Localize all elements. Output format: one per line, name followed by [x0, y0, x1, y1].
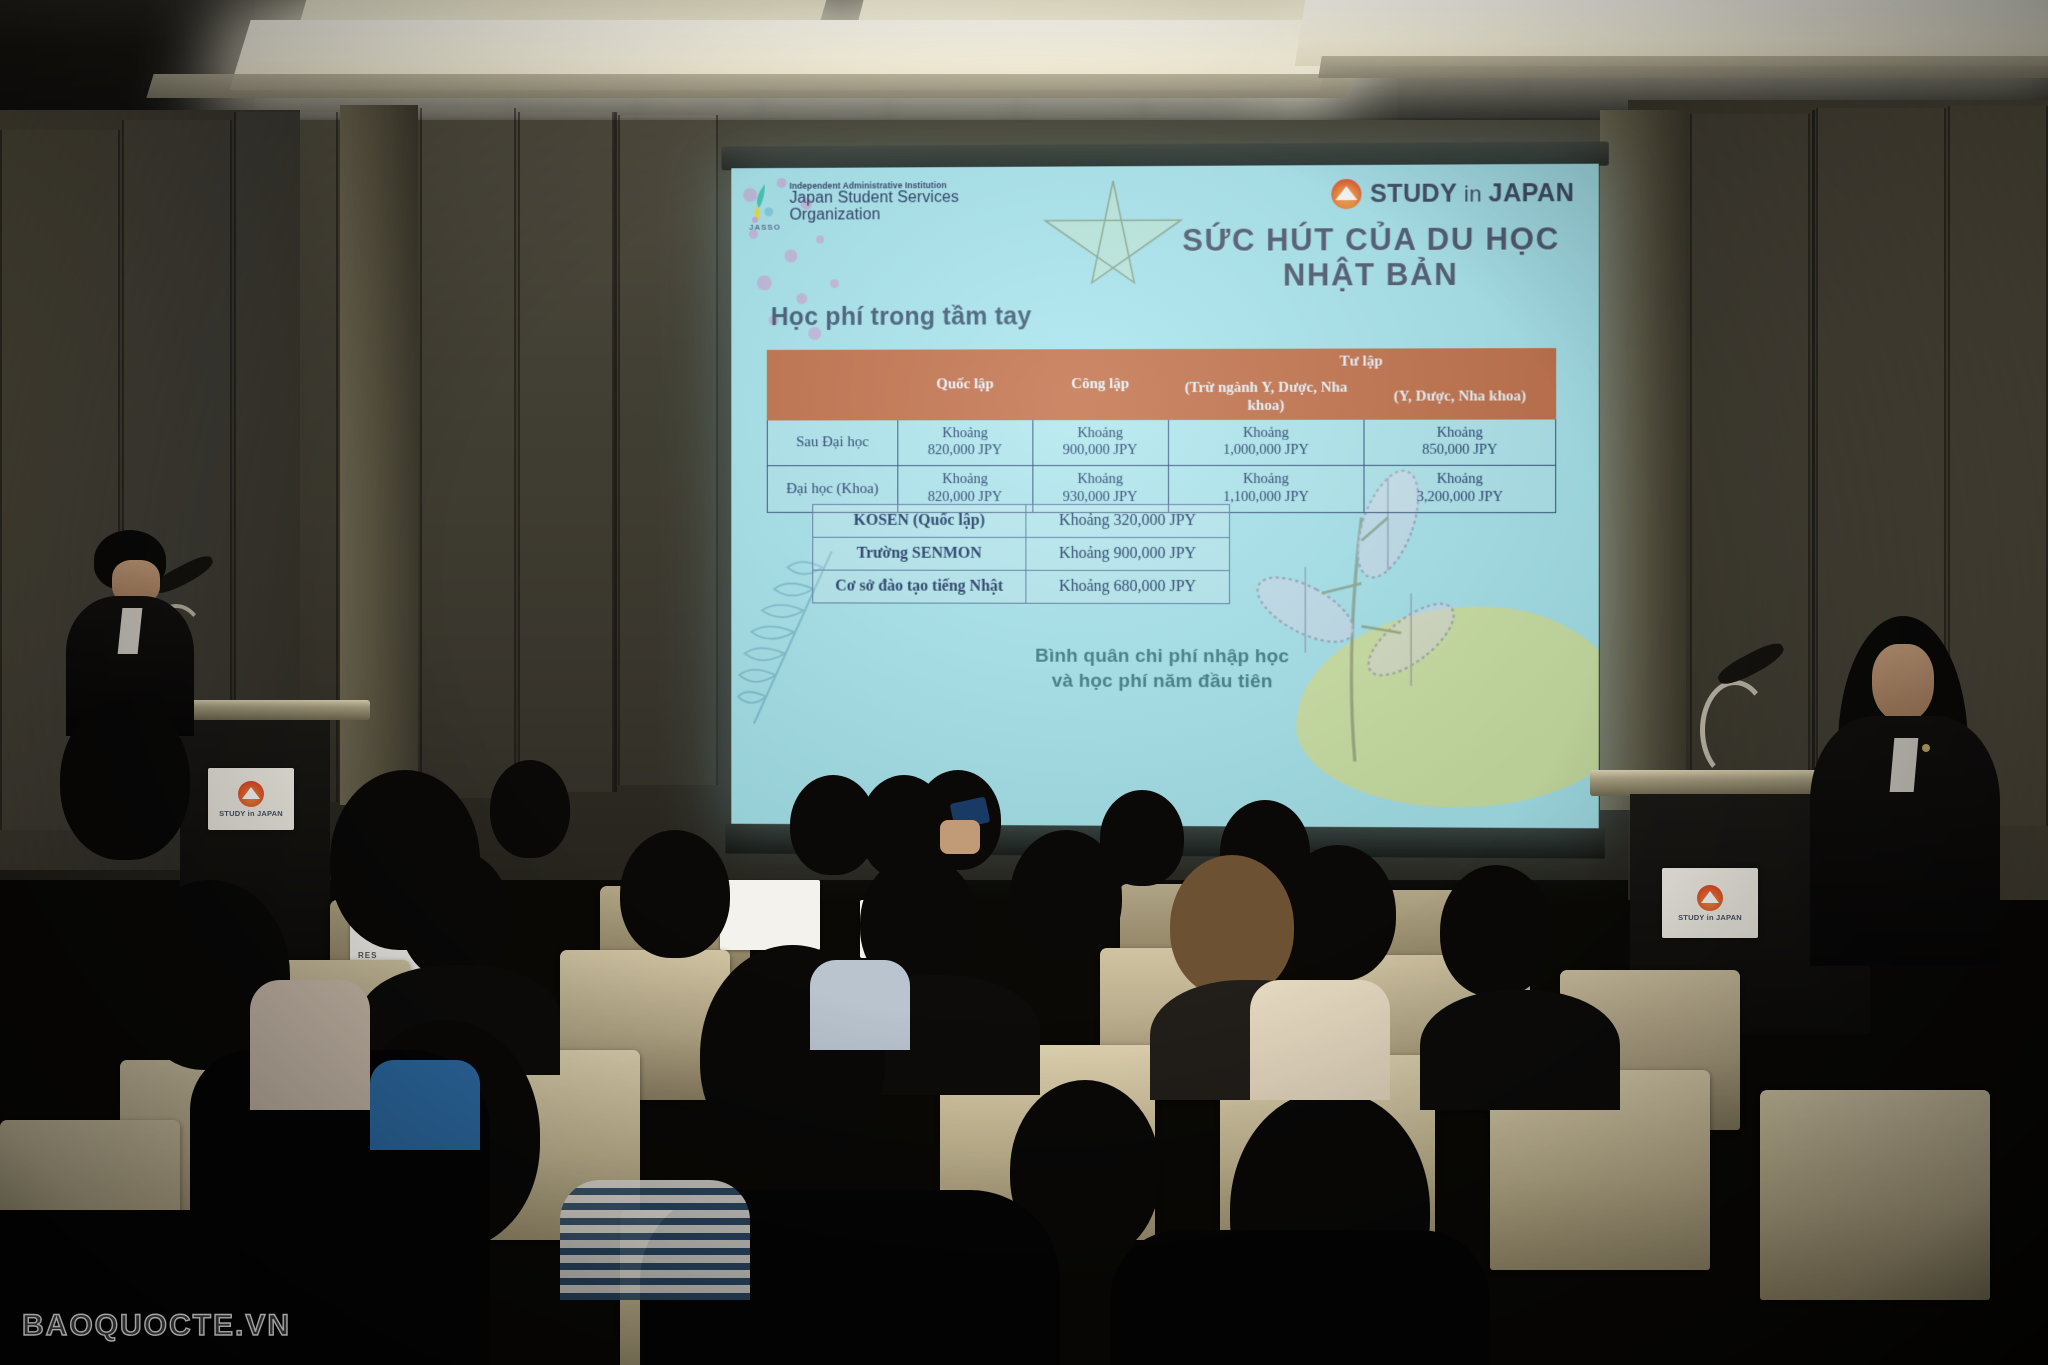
tuition-table-main: Quốc lập Công lập Tư lập (Trừ ngành Y, D…: [767, 348, 1556, 513]
table-body: Sau Đại học Khoảng 820,000 JPY Khoảng 90…: [767, 419, 1555, 512]
audience-head: [1170, 855, 1294, 997]
audience-head: [60, 700, 190, 860]
chair: [1760, 1090, 1990, 1300]
podium-right-sign: STUDY in JAPAN: [1662, 868, 1758, 938]
cell-value: 820,000 JPY: [902, 443, 1028, 461]
audience-head: [1280, 845, 1396, 981]
audience-clothing: [810, 960, 910, 1050]
hand: [940, 820, 980, 854]
audience-head: [490, 760, 570, 858]
audience-head: [330, 770, 480, 950]
cell-graduate-national: Khoảng 820,000 JPY: [898, 419, 1033, 465]
table-group-header-row: Quốc lập Công lập Tư lập: [767, 349, 1555, 377]
col-header-private-nonmed: (Trừ ngành Y, Dược, Nha khoa): [1168, 375, 1364, 419]
wall-panel: [420, 108, 516, 798]
col-header-public: Công lập: [1033, 349, 1168, 419]
cell-prefix: Khoảng: [1037, 425, 1163, 443]
watermark: BAOQUOCTE.VN: [22, 1309, 291, 1343]
study-in-japan-wordmark: STUDY in JAPAN: [1370, 178, 1574, 208]
cell-value: 850,000 JPY: [1369, 442, 1551, 460]
cell-graduate-private-nonmed: Khoảng 1,000,000 JPY: [1168, 419, 1364, 466]
cell-prefix: Khoảng: [1172, 425, 1359, 443]
podium-left-sign-text: STUDY in JAPAN: [219, 809, 283, 818]
audience-striped-shirt: [560, 1180, 750, 1300]
cove-lip: [146, 74, 1353, 98]
audience-head: [620, 830, 730, 958]
microphone-stem-right: [1700, 680, 1770, 780]
col-header-national: Quốc lập: [898, 350, 1033, 420]
jasso-mark-icon: JASSO: [749, 182, 783, 230]
row-label-senmon: Trường SENMON: [813, 537, 1026, 570]
corner-cell: [767, 350, 897, 420]
headline-line-1: SỨC HÚT CỦA DU HỌC: [1170, 222, 1572, 258]
foreground-silhouette: [1110, 1230, 1490, 1365]
jasso-logo: JASSO Independent Administrative Institu…: [749, 181, 1016, 230]
row-value-kosen: Khoảng 320,000 JPY: [1026, 504, 1230, 537]
mount-fuji-icon: [1332, 179, 1362, 209]
slide-footnote: Bình quân chi phí nhập học và học phí nă…: [731, 643, 1598, 696]
podium-left-sign: STUDY in JAPAN: [208, 768, 294, 830]
study-in-japan-logo: STUDY in JAPAN: [1332, 178, 1575, 209]
table-row: Trường SENMON Khoảng 900,000 JPY: [813, 537, 1230, 570]
footnote-line-2: và học phí năm đầu tiên: [731, 668, 1598, 696]
row-label-graduate: Sau Đại học: [767, 420, 897, 466]
cell-value: 3,200,000 JPY: [1369, 489, 1551, 507]
cell-prefix: Khoảng: [1037, 471, 1163, 489]
cell-value: 900,000 JPY: [1037, 442, 1163, 460]
audience-head: [1010, 830, 1122, 962]
wall-pillar: [1600, 110, 1686, 810]
table-row: KOSEN (Quốc lập) Khoảng 320,000 JPY: [813, 504, 1230, 537]
projection-screen: JASSO Independent Administrative Institu…: [731, 164, 1598, 829]
cell-graduate-public: Khoảng 900,000 JPY: [1033, 419, 1168, 465]
seat-card: [720, 880, 820, 950]
cell-prefix: Khoảng: [1172, 471, 1359, 489]
wall-panel: [234, 112, 338, 802]
brand-in: in: [1457, 181, 1488, 206]
jasso-name-line2: Organization: [790, 207, 960, 224]
row-label-japanese-school: Cơ sở đào tạo tiếng Nhật: [813, 570, 1026, 603]
cell-prefix: Khoảng: [1369, 424, 1551, 442]
cove-lip: [1318, 56, 2048, 78]
presentation-slide: JASSO Independent Administrative Institu…: [731, 164, 1598, 829]
slide-subheading: Học phí trong tầm tay: [771, 302, 1032, 332]
presenter: [1800, 616, 2000, 946]
audience-torso: [1420, 990, 1620, 1110]
wall-panel: [618, 115, 718, 785]
wall-panel: [518, 112, 614, 792]
row-value-japanese-school: Khoảng 680,000 JPY: [1026, 570, 1230, 603]
footnote-line-1: Bình quân chi phí nhập học: [731, 643, 1598, 670]
audience-clothing: [1250, 980, 1390, 1100]
table-row: Sau Đại học Khoảng 820,000 JPY Khoảng 90…: [767, 419, 1555, 466]
cell-value: 1,000,000 JPY: [1172, 442, 1359, 460]
tuition-table-secondary: KOSEN (Quốc lập) Khoảng 320,000 JPY Trườ…: [812, 504, 1230, 604]
col-group-private: Tư lập: [1168, 349, 1556, 376]
brand-japan: JAPAN: [1489, 178, 1575, 207]
cell-prefix: Khoảng: [902, 425, 1028, 443]
audience-head: [1440, 865, 1552, 997]
jasso-abbr: JASSO: [749, 223, 781, 232]
cell-prefix: Khoảng: [902, 471, 1028, 489]
table-row: Cơ sở đào tạo tiếng Nhật Khoảng 680,000 …: [813, 570, 1230, 604]
cell-graduate-private-med: Khoảng 850,000 JPY: [1364, 419, 1555, 466]
table-head: Quốc lập Công lập Tư lập (Trừ ngành Y, D…: [767, 349, 1555, 420]
headline-line-2: NHẬT BẢN: [1170, 257, 1572, 293]
lapel-pin: [1922, 744, 1930, 752]
jasso-name-line1: Japan Student Services: [790, 190, 960, 208]
slide-headline: SỨC HÚT CỦA DU HỌC NHẬT BẢN: [1170, 222, 1572, 293]
podium-right-sign-text: STUDY in JAPAN: [1678, 913, 1742, 922]
brand-study: STUDY: [1370, 179, 1457, 208]
photograph: JASSO Independent Administrative Institu…: [0, 0, 2048, 1365]
row-value-senmon: Khoảng 900,000 JPY: [1026, 537, 1230, 570]
cell-prefix: Khoảng: [1369, 471, 1551, 489]
row-label-kosen: KOSEN (Quốc lập): [813, 504, 1026, 537]
col-header-private-med: (Y, Dược, Nha khoa): [1364, 375, 1555, 419]
audience-clothing: [370, 1060, 480, 1150]
wall-seam: [614, 112, 617, 792]
audience-clothing: [250, 980, 370, 1110]
cell-undergrad-private-med: Khoảng 3,200,000 JPY: [1364, 465, 1555, 512]
